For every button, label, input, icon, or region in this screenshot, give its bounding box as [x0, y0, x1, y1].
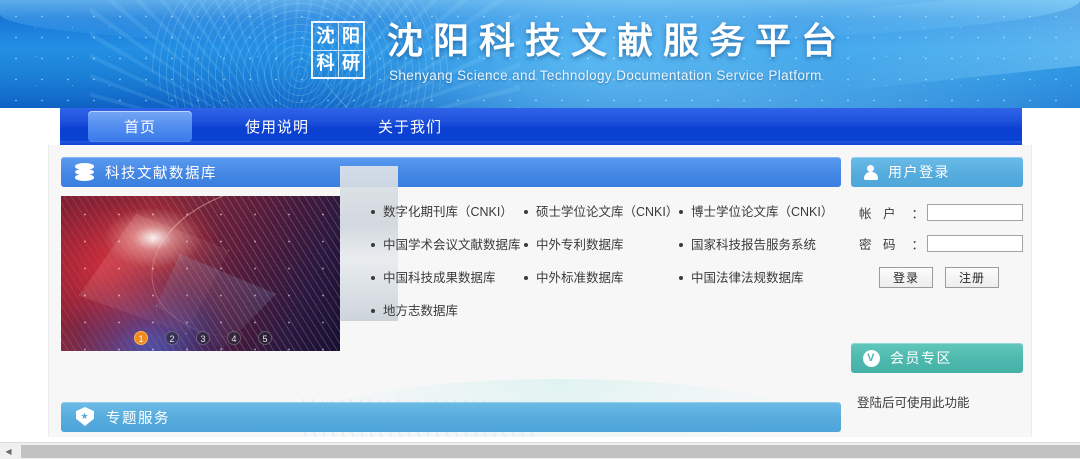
password-field-row: 密 码 ： [851, 234, 1023, 253]
nav-item-home[interactable]: 首页 [88, 111, 192, 142]
list-item-label: 中国学术会议文献数据库 [383, 238, 521, 252]
bullet-icon [371, 276, 375, 280]
panel-spacer [851, 300, 1023, 343]
list-item[interactable]: 地方志数据库 [371, 304, 524, 318]
carousel-pagination: 1 2 3 4 5 [134, 331, 272, 345]
register-button[interactable]: 注册 [945, 267, 999, 288]
browser-viewport: 沈 阳 科 研 沈阳科技文献服务平台 Shenyang Science and … [0, 0, 1080, 459]
list-item-label: 中国法律法规数据库 [691, 271, 804, 285]
bullet-icon [371, 243, 375, 247]
site-title-en: Shenyang Science and Technology Document… [389, 68, 822, 84]
nav-item-usage[interactable]: 使用说明 [227, 111, 327, 142]
scrollbar-thumb[interactable] [21, 445, 1080, 458]
page-content: 科技文献数据库 1 2 3 4 5 数字化期刊库（CNKI） [48, 145, 1032, 437]
right-column: 用户登录 帐 户 ： 密 码 ： 登录 注册 [851, 157, 1023, 411]
left-column: 科技文献数据库 1 2 3 4 5 数字化期刊库（CNKI） [61, 157, 841, 351]
database-list: 数字化期刊库（CNKI） 中国学术会议文献数据库 中国科技成果数据库 地方志数据… [371, 205, 841, 337]
bullet-icon [524, 276, 528, 280]
list-item-label: 中国科技成果数据库 [383, 271, 496, 285]
database-section-header: 科技文献数据库 [61, 157, 841, 187]
list-item[interactable]: 博士学位论文库（CNKI） [679, 205, 839, 219]
list-item[interactable]: 中国科技成果数据库 [371, 271, 524, 285]
list-item[interactable]: 中外标准数据库 [524, 271, 679, 285]
database-section-title: 科技文献数据库 [105, 162, 217, 183]
password-input[interactable] [927, 235, 1023, 252]
carousel-dot-1[interactable]: 1 [134, 331, 148, 345]
list-item[interactable]: 硕士学位论文库（CNKI） [524, 205, 679, 219]
list-item[interactable]: 中国法律法规数据库 [679, 271, 839, 285]
database-column-3: 博士学位论文库（CNKI） 国家科技报告服务系统 中国法律法规数据库 [679, 205, 839, 337]
user-icon [863, 164, 878, 180]
bullet-icon [524, 243, 528, 247]
list-item-label: 中外专利数据库 [536, 238, 624, 252]
member-panel-title: 会员专区 [890, 348, 952, 368]
horizontal-scrollbar[interactable]: ◀ ▶ [0, 442, 1080, 459]
list-item-label: 地方志数据库 [383, 304, 458, 318]
password-label: 密 码 [859, 234, 911, 253]
list-item[interactable]: 国家科技报告服务系统 [679, 238, 839, 252]
shield-star-icon: ★ [75, 407, 95, 427]
topic-section-header: ★ 专题服务 [61, 402, 841, 432]
list-item-label: 数字化期刊库（CNKI） [383, 205, 513, 219]
logo-char-4: 研 [338, 50, 363, 77]
account-label: 帐 户 [859, 203, 911, 222]
account-input[interactable] [927, 204, 1023, 221]
database-column-2: 硕士学位论文库（CNKI） 中外专利数据库 中外标准数据库 [524, 205, 679, 337]
site-banner: 沈 阳 科 研 沈阳科技文献服务平台 Shenyang Science and … [0, 0, 1080, 108]
database-column-1: 数字化期刊库（CNKI） 中国学术会议文献数据库 中国科技成果数据库 地方志数据… [371, 205, 524, 337]
bullet-icon [371, 210, 375, 214]
list-item-label: 中外标准数据库 [536, 271, 624, 285]
bullet-icon [371, 309, 375, 313]
list-item-label: 博士学位论文库（CNKI） [691, 205, 833, 219]
bullet-icon [679, 210, 683, 214]
logo-char-3: 科 [313, 50, 338, 77]
login-panel-header: 用户登录 [851, 157, 1023, 187]
carousel-dot-4[interactable]: 4 [227, 331, 241, 345]
site-title-cn: 沈阳科技文献服务平台 [387, 20, 847, 62]
account-field-row: 帐 户 ： [851, 203, 1023, 222]
list-item-label: 硕士学位论文库（CNKI） [536, 205, 678, 219]
promo-carousel[interactable]: 1 2 3 4 5 [61, 196, 340, 351]
list-item[interactable]: 中外专利数据库 [524, 238, 679, 252]
login-button[interactable]: 登录 [879, 267, 933, 288]
list-item[interactable]: 中国学术会议文献数据库 [371, 238, 524, 252]
scroll-left-arrow[interactable]: ◀ [0, 443, 17, 459]
bullet-icon [524, 210, 528, 214]
member-panel-header: V 会员专区 [851, 343, 1023, 373]
list-item-label: 国家科技报告服务系统 [691, 238, 816, 252]
member-panel-body: 登陆后可使用此功能 [851, 373, 1023, 411]
login-button-row: 登录 注册 [851, 267, 1023, 288]
main-navigation: 首页 使用说明 关于我们 [60, 108, 1022, 145]
database-icon [75, 163, 94, 181]
logo-char-1: 沈 [313, 23, 338, 50]
scrollbar-track[interactable] [17, 443, 1063, 459]
carousel-dot-2[interactable]: 2 [165, 331, 179, 345]
bullet-icon [679, 276, 683, 280]
member-panel-message: 登陆后可使用此功能 [857, 395, 1023, 411]
login-form: 帐 户 ： 密 码 ： 登录 注册 [851, 187, 1023, 300]
nav-item-about[interactable]: 关于我们 [360, 111, 460, 142]
carousel-dot-3[interactable]: 3 [196, 331, 210, 345]
v-badge-icon: V [863, 350, 880, 367]
password-colon: ： [911, 234, 924, 253]
logo-char-2: 阳 [338, 23, 363, 50]
topic-section-title: 专题服务 [106, 407, 170, 428]
account-colon: ： [911, 203, 924, 222]
carousel-dot-5[interactable]: 5 [258, 331, 272, 345]
login-panel-title: 用户登录 [888, 162, 950, 182]
list-item[interactable]: 数字化期刊库（CNKI） [371, 205, 524, 219]
site-logo-icon: 沈 阳 科 研 [311, 21, 365, 79]
bullet-icon [679, 243, 683, 247]
